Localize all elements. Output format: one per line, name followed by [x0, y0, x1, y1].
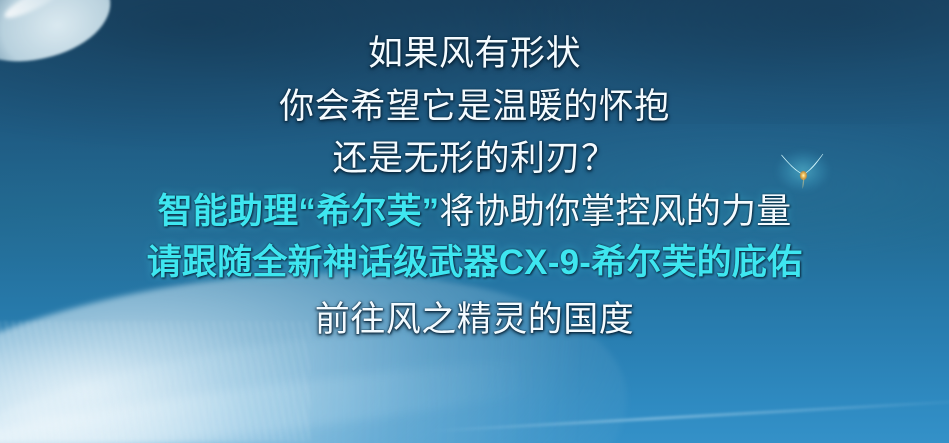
promo-banner: 如果风有形状 你会希望它是温暖的怀抱 还是无形的利刃？ 智能助理“希尔芙”将协助… [0, 0, 949, 443]
sky-background [0, 0, 949, 443]
